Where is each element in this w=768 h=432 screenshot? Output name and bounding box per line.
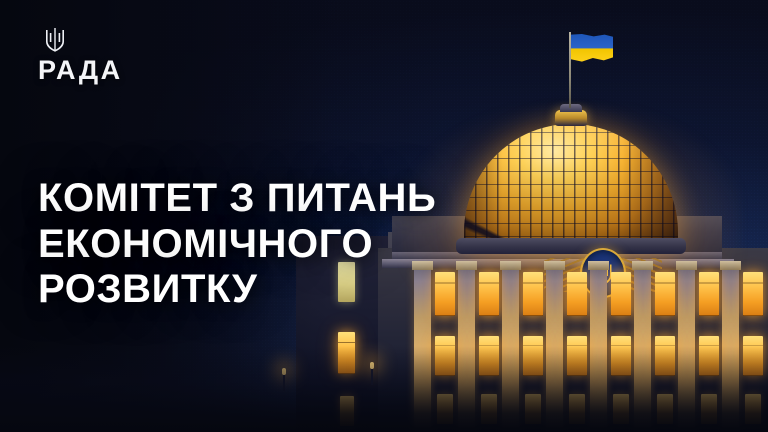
lit-window (655, 272, 675, 316)
ukraine-trident-icon (44, 26, 66, 52)
page-title: КОМІТЕТ З ПИТАНЬ ЕКОНОМІЧНОГО РОЗВИТКУ (38, 176, 578, 313)
dome-lantern-cap (560, 104, 582, 112)
dome-lantern (555, 110, 587, 126)
lit-window (743, 272, 763, 316)
lit-window (699, 272, 719, 316)
rada-logo[interactable]: РАДА (38, 26, 158, 84)
title-line-3: РОЗВИТКУ (38, 267, 578, 313)
banner-image: РАДА КОМІТЕТ З ПИТАНЬ ЕКОНОМІЧНОГО РОЗВИ… (0, 0, 768, 432)
title-line-1: КОМІТЕТ З ПИТАНЬ (38, 176, 578, 222)
rada-logo-text: РАДА (38, 57, 158, 84)
lit-window (611, 272, 631, 316)
bottom-fade (0, 346, 768, 432)
title-line-2: ЕКОНОМІЧНОГО (38, 222, 578, 268)
flagpole (569, 32, 571, 108)
